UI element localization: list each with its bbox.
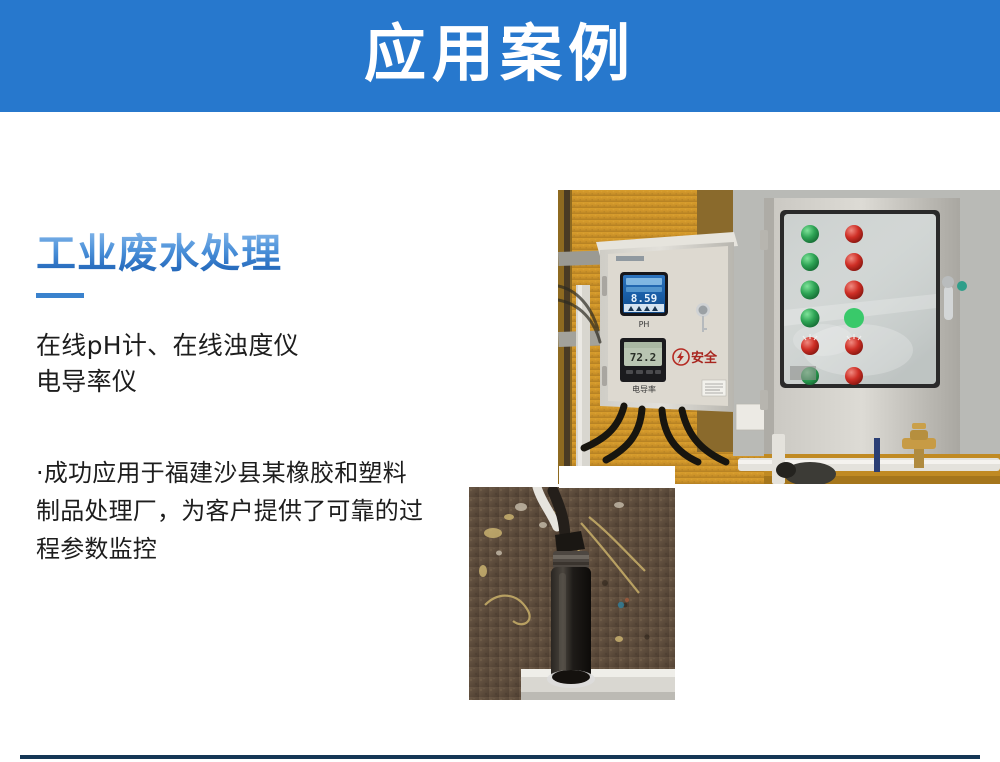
application-case-page: 应用案例 工业废水处理 在线pH计、在线浊度仪 电导率仪 ·成功应用于福建沙县某… [0, 0, 1000, 762]
content-left-column: 工业废水处理 在线pH计、在线浊度仪 电导率仪 ·成功应用于福建沙县某橡胶和塑料… [36, 232, 436, 569]
product-list-line-1: 在线pH计、在线浊度仪 [36, 328, 436, 365]
footer-divider-rule [20, 755, 980, 759]
main-photo-overlap-sliver [559, 466, 675, 488]
inset-photo-graphic [469, 487, 675, 700]
sensor-probe [547, 531, 595, 688]
main-photo-control-cabinets: 8.59 PH 72.2 电导率 [558, 190, 1000, 484]
inset-photo-sensor-probe [469, 487, 675, 700]
case-description-paragraph: ·成功应用于福建沙县某橡胶和塑料制品处理厂，为客户提供了可靠的过程参数监控 [36, 455, 428, 569]
heading-underline-rule [36, 293, 84, 298]
svg-text:安全: 安全 [691, 350, 718, 366]
page-title: 应用案例 [364, 23, 636, 85]
section-heading: 工业废水处理 [36, 232, 436, 277]
main-photo-graphic: 8.59 PH 72.2 电导率 [558, 190, 1000, 484]
conductivity-meter-label: 电导率 [632, 384, 656, 394]
product-list-text: 在线pH计、在线浊度仪 电导率仪 [36, 328, 436, 401]
conductivity-meter-reading: 72.2 [630, 351, 657, 364]
product-list-line-2: 电导率仪 [36, 364, 436, 401]
ph-meter-label: PH [639, 320, 650, 329]
ph-meter-reading: 8.59 [631, 292, 658, 305]
page-header-banner: 应用案例 [0, 0, 1000, 112]
overlap-sliver-graphic [559, 466, 675, 488]
